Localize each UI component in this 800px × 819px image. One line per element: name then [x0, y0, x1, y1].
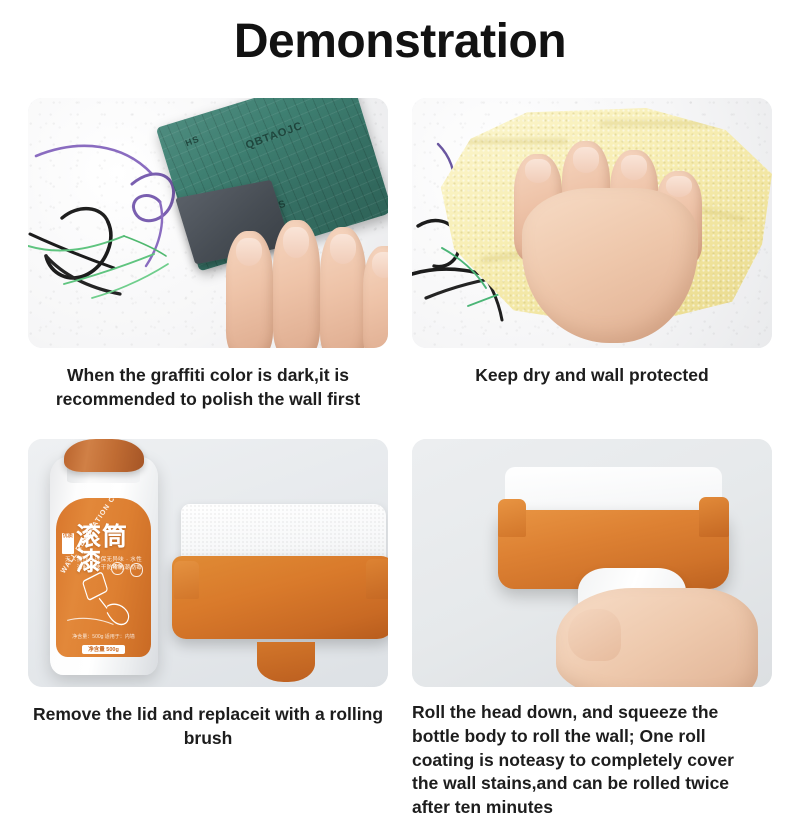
caption-polish-wall: When the graffiti color is dark,it is re…	[28, 348, 388, 411]
bottle-cap	[64, 439, 144, 472]
panel-polish-wall: QBTAOJC JT S HS	[0, 98, 400, 411]
label-illustration	[64, 568, 144, 629]
caption-line: after ten minutes	[412, 796, 772, 819]
fingernail	[283, 227, 309, 258]
page-title: Demonstration	[0, 14, 800, 69]
fingernail	[525, 159, 552, 183]
label-footer: 净含量：500g 适用于：内墙	[64, 634, 144, 642]
paint-bottle: 优质 滚筒漆 无人操作 · 环保无异味 · 水性涂料 · 快干防霉防潮 WALL…	[50, 457, 158, 675]
block-print-line-4: HS	[184, 134, 201, 149]
label-badge-eco: 环保	[111, 562, 123, 575]
finger-middle	[273, 220, 320, 348]
demonstration-page: Demonstration	[0, 0, 800, 800]
panel-replace-lid: 优质 滚筒漆 无人操作 · 环保无异味 · 水性涂料 · 快干防霉防潮 WALL…	[0, 439, 400, 819]
fingernail	[372, 252, 388, 278]
roller-arm-right	[366, 559, 388, 599]
roller-frame	[172, 556, 388, 639]
fingernail	[236, 238, 262, 266]
hand-holding-block	[222, 183, 388, 348]
fingernail	[573, 147, 600, 173]
roller-arm-left	[174, 561, 199, 599]
bottle-label: 优质 滚筒漆 无人操作 · 环保无异味 · 水性涂料 · 快干防霉防潮 WALL…	[56, 498, 151, 657]
caption-line: coating is noteasy to completely cover	[412, 749, 772, 773]
caption-wipe-dry: Keep dry and wall protected	[412, 348, 772, 388]
hand-squeezing-bottle	[556, 588, 758, 687]
caption-roll-wall: Roll the head down, and squeeze the bott…	[412, 687, 772, 819]
roller-stem	[257, 642, 315, 682]
finger-index	[226, 231, 273, 348]
fingernail	[666, 176, 692, 197]
hand-wiping	[506, 133, 715, 343]
caption-line: the wall stains,and can be rolled twice	[412, 772, 772, 796]
panel-roll-wall: Roll the head down, and squeeze the bott…	[400, 439, 800, 819]
roller-brush-head	[172, 504, 388, 658]
fingernail	[621, 155, 648, 180]
finger-little	[363, 246, 388, 348]
roller-arm-right	[699, 497, 729, 536]
finger-ring	[320, 227, 367, 348]
block-print-line-1: QBTAOJC	[243, 120, 303, 152]
demo-row-bottom: 优质 滚筒漆 无人操作 · 环保无异味 · 水性涂料 · 快干防霉防潮 WALL…	[0, 439, 800, 819]
label-badge-mould: 防霉	[130, 563, 142, 576]
caption-line: Roll the head down, and squeeze the	[412, 701, 772, 725]
thumb	[568, 609, 620, 661]
photo-polish-wall: QBTAOJC JT S HS	[28, 98, 388, 348]
demo-row-top: QBTAOJC JT S HS	[0, 98, 800, 411]
fingernail	[330, 234, 356, 264]
roller-line-art	[64, 568, 144, 629]
photo-replace-lid: 优质 滚筒漆 无人操作 · 环保无异味 · 水性涂料 · 快干防霉防潮 WALL…	[28, 439, 388, 687]
roller-arm-left	[498, 499, 526, 537]
label-weight: 净含量 500g	[82, 645, 126, 655]
caption-replace-lid: Remove the lid and replaceit with a roll…	[28, 687, 388, 750]
photo-roll-wall	[412, 439, 772, 687]
panel-wipe-dry: Keep dry and wall protected	[400, 98, 800, 411]
caption-line: bottle body to roll the wall; One roll	[412, 725, 772, 749]
demonstration-grid: QBTAOJC JT S HS	[0, 98, 800, 819]
photo-wipe-dry	[412, 98, 772, 348]
palm	[522, 188, 697, 343]
